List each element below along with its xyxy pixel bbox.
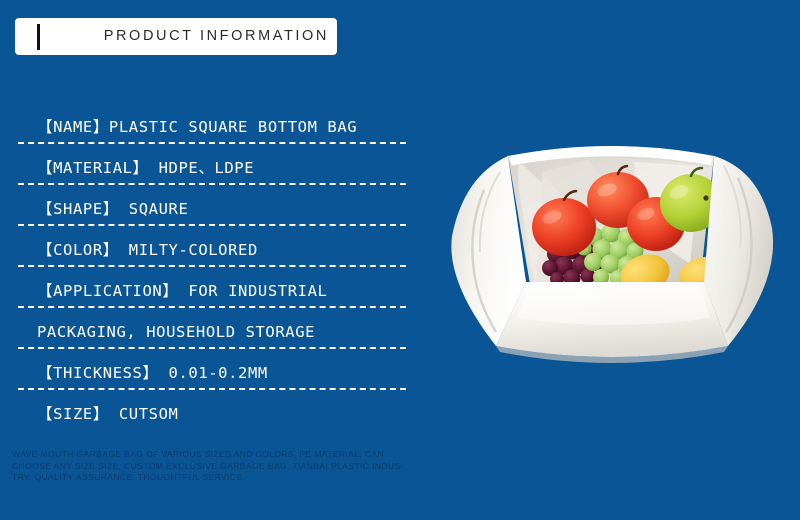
page-title: PRODUCT INFORMATION: [104, 18, 329, 55]
bag-front-highlight: [516, 286, 710, 325]
header-accent-bar: [37, 24, 40, 50]
spec-thickness: 【THICKNESS】 0.01-0.2MM: [37, 358, 268, 388]
spec-application: 【APPLICATION】 FOR INDUSTRIAL: [37, 276, 327, 306]
spec-divider: [18, 183, 406, 185]
spec-material: 【MATERIAL】 HDPE、LDPE: [37, 153, 254, 183]
header-bar: PRODUCT INFORMATION: [15, 18, 337, 55]
spec-color: 【COLOR】 MILTY-COLORED: [37, 235, 258, 265]
plastic-bag-with-fruit-illustration: [438, 132, 786, 394]
spec-shape: 【SHAPE】 SQAURE: [37, 194, 188, 224]
spec-divider: [18, 224, 406, 226]
spec-divider: [18, 142, 406, 144]
spec-row: 【APPLICATION】 FOR INDUSTRIAL: [18, 276, 408, 317]
spec-row: 【SHAPE】 SQAURE: [18, 194, 408, 235]
spec-row: PACKAGING, HOUSEHOLD STORAGE: [18, 317, 408, 358]
spec-row: 【MATERIAL】 HDPE、LDPE: [18, 153, 408, 194]
spec-name: 【NAME】PLASTIC SQUARE BOTTOM BAG: [37, 112, 357, 142]
spec-list: 【NAME】PLASTIC SQUARE BOTTOM BAG 【MATERIA…: [18, 112, 408, 440]
product-information-banner: PRODUCT INFORMATION 【NAME】PLASTIC SQUARE…: [0, 0, 800, 520]
footer-line: CHOOSE ANY SIZE SIZE, CUSTOM EXCLUSIVE G…: [12, 461, 412, 473]
spec-divider: [18, 306, 406, 308]
spec-divider: [18, 265, 406, 267]
footer-line: TRY, QUALITY ASSURANCE, THOUGHTFUL SERVI…: [12, 472, 412, 484]
spec-row: 【COLOR】 MILTY-COLORED: [18, 235, 408, 276]
footer-description: WAVE MOUTH GARBAGE BAG OF VARIOUS SIZES …: [12, 449, 412, 484]
spec-row: 【NAME】PLASTIC SQUARE BOTTOM BAG: [18, 112, 408, 153]
spec-divider: [18, 388, 406, 390]
spec-divider: [18, 347, 406, 349]
product-photo: [438, 132, 786, 394]
spec-application-continued: PACKAGING, HOUSEHOLD STORAGE: [37, 317, 315, 347]
footer-line: WAVE MOUTH GARBAGE BAG OF VARIOUS SIZES …: [12, 449, 412, 461]
spec-row: 【THICKNESS】 0.01-0.2MM: [18, 358, 408, 399]
spec-row: 【SIZE】 CUTSOM: [18, 399, 408, 440]
spec-size: 【SIZE】 CUTSOM: [37, 399, 178, 429]
